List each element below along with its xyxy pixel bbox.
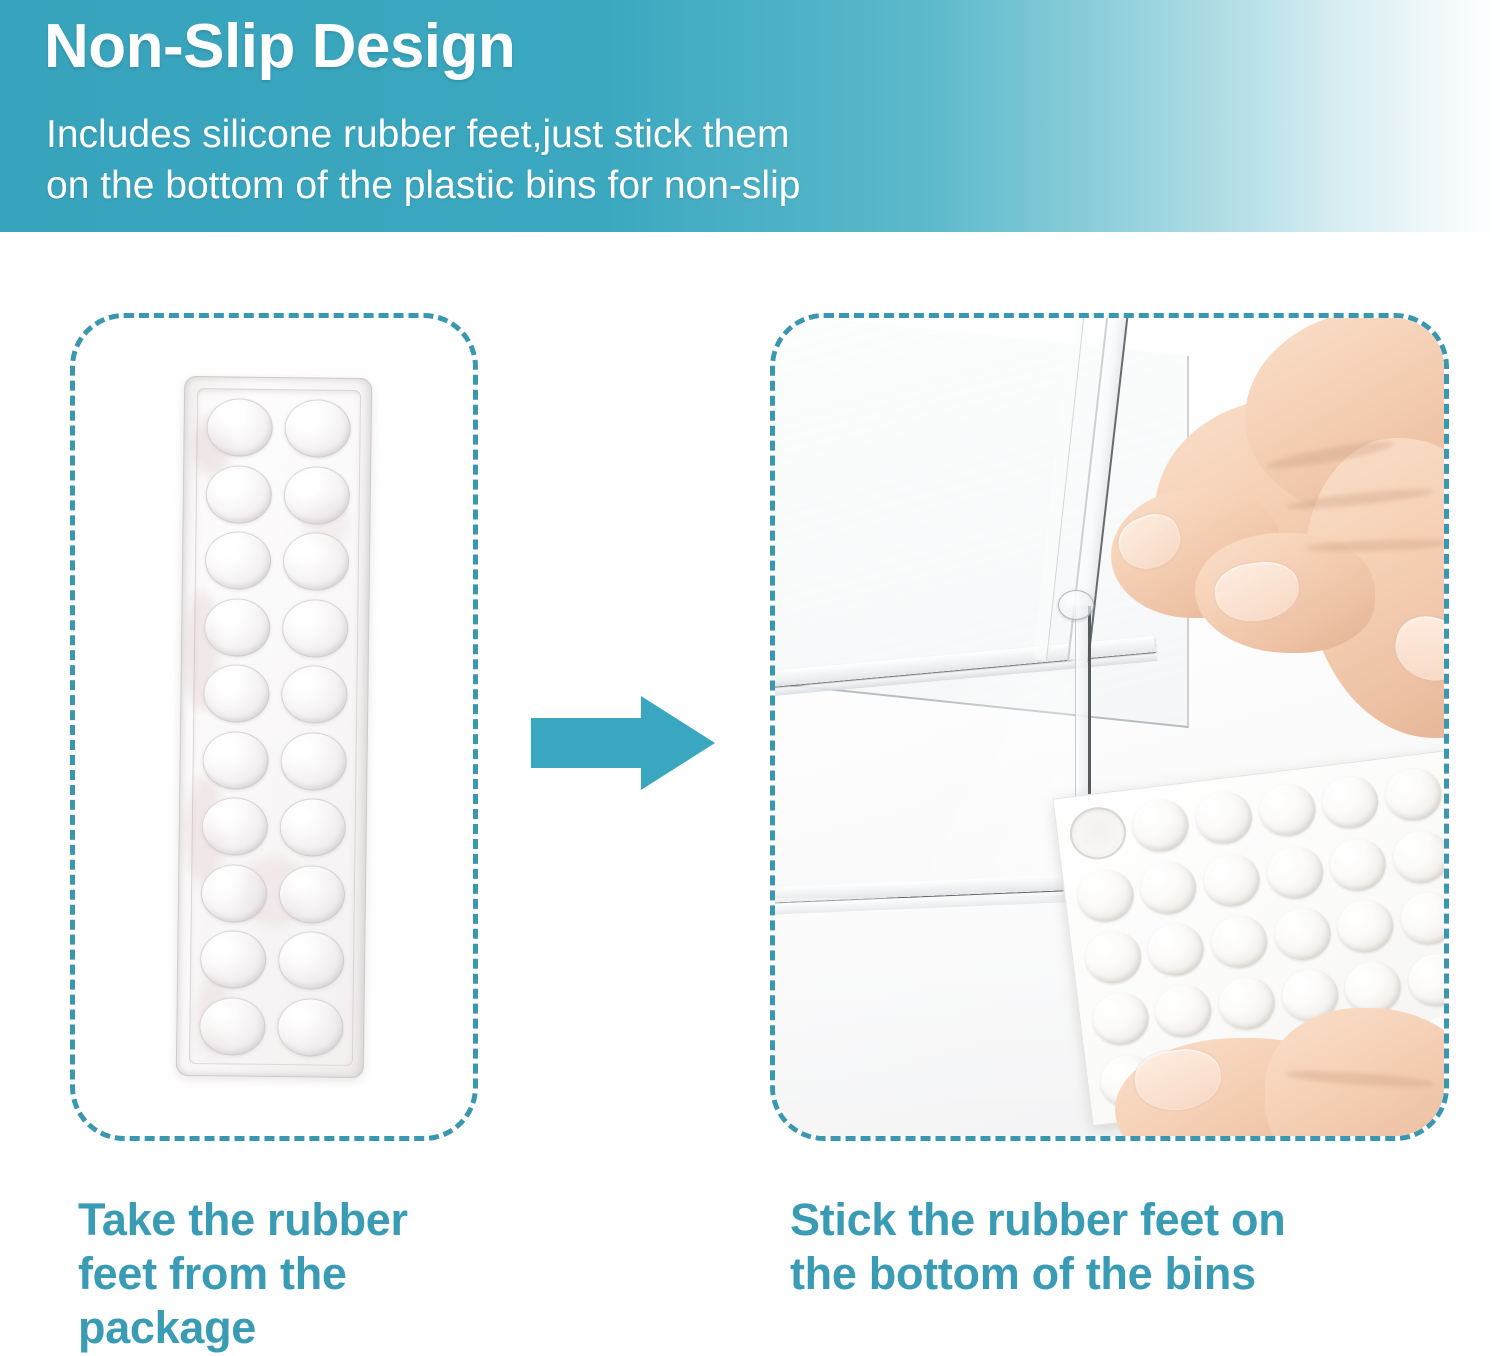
- silicone-foot: [1335, 897, 1397, 955]
- clear-bumper-cell: [278, 463, 355, 528]
- clear-bumper: [283, 466, 350, 525]
- blister-package-photo: [176, 376, 373, 1078]
- silicone-foot: [1208, 913, 1270, 971]
- clear-bumper-cell: [195, 927, 272, 992]
- silicone-foot: [1138, 858, 1200, 916]
- clear-bumper: [284, 399, 351, 458]
- banner-subtitle-line-1: Includes silicone rubber feet,just stick…: [46, 110, 800, 161]
- silicone-foot: [1145, 920, 1207, 978]
- caption-right-line-1: Stick the rubber feet on: [790, 1193, 1285, 1247]
- banner-subtitle-line-2: on the bottom of the plastic bins for no…: [46, 161, 800, 212]
- caption-right-line-2: the bottom of the bins: [790, 1247, 1285, 1301]
- silicone-foot: [1201, 851, 1263, 909]
- clear-bumper-cell: [278, 529, 355, 594]
- clear-bumper: [277, 998, 344, 1057]
- caption-left-line-1: Take the rubber: [78, 1193, 408, 1247]
- clear-bumper-cell: [276, 662, 353, 727]
- clear-bumper-cell: [199, 595, 276, 660]
- clear-bumper: [283, 532, 350, 591]
- clear-bumper: [278, 931, 345, 990]
- bin-highlight: [925, 668, 1075, 888]
- clear-bumper-grid: [192, 393, 358, 1062]
- silicone-foot: [1264, 843, 1326, 901]
- clear-bumper: [281, 665, 348, 724]
- clear-bumper: [199, 997, 266, 1056]
- clear-bumper: [206, 398, 273, 457]
- lower-hand: [1075, 978, 1449, 1141]
- clear-bumper-cell: [272, 995, 349, 1060]
- clear-bumper: [205, 465, 272, 524]
- clear-bumper-cell: [273, 928, 350, 993]
- silicone-foot: [1320, 773, 1382, 831]
- clear-bumper-cell: [197, 728, 274, 793]
- clear-bumper: [280, 732, 347, 791]
- silicone-foot: [1390, 827, 1449, 885]
- clear-bumper-cell: [201, 395, 278, 460]
- clear-bumper: [279, 798, 346, 857]
- caption-right: Stick the rubber feet on the bottom of t…: [790, 1193, 1285, 1301]
- right-arrow-icon: [531, 696, 715, 790]
- step-panel-left: [70, 313, 478, 1141]
- caption-left-line-2: feet from the: [78, 1247, 408, 1301]
- silicone-foot: [1327, 835, 1389, 893]
- clear-bumper: [201, 797, 268, 856]
- clear-bumper: [200, 930, 267, 989]
- clear-bumper: [203, 664, 270, 723]
- silicone-foot-empty-slot: [1067, 804, 1129, 862]
- upper-hand: [1095, 313, 1449, 758]
- clear-bumper-cell: [274, 862, 351, 927]
- clear-bumper-cell: [279, 396, 356, 461]
- caption-left: Take the rubber feet from the package: [78, 1193, 408, 1355]
- clear-bumper: [282, 599, 349, 658]
- stick-feet-photo: [775, 318, 1444, 1136]
- banner-subtitle: Includes silicone rubber feet,just stick…: [46, 110, 800, 211]
- silicone-foot: [1398, 889, 1449, 947]
- clear-bumper-cell: [277, 596, 354, 661]
- attached-rubber-foot: [1058, 590, 1094, 620]
- silicone-foot: [1130, 797, 1192, 855]
- clear-bumper-cell: [196, 861, 273, 926]
- step-panel-right: [770, 313, 1449, 1141]
- clear-bumper-cell: [198, 661, 275, 726]
- clear-bumper: [201, 864, 268, 923]
- clear-bumper: [204, 598, 271, 657]
- bin-front-face: [770, 898, 1091, 1098]
- caption-left-line-3: package: [78, 1301, 408, 1355]
- clear-bumper: [205, 531, 272, 590]
- clear-bumper: [202, 731, 269, 790]
- silicone-foot: [1272, 905, 1334, 963]
- page-title: Non-Slip Design: [44, 14, 515, 79]
- silicone-foot: [1383, 766, 1445, 824]
- silicone-foot: [1256, 781, 1318, 839]
- clear-bumper-cell: [196, 794, 273, 859]
- clear-bumper-cell: [275, 729, 352, 794]
- silicone-foot: [1193, 789, 1255, 847]
- clear-bumper-cell: [200, 462, 277, 527]
- clear-bumper: [279, 865, 346, 924]
- header-banner: Non-Slip Design Includes silicone rubber…: [0, 0, 1500, 232]
- clear-bumper-cell: [274, 795, 351, 860]
- clear-bumper-cell: [194, 994, 271, 1059]
- silicone-foot: [1074, 866, 1136, 924]
- clear-bumper-cell: [200, 528, 277, 593]
